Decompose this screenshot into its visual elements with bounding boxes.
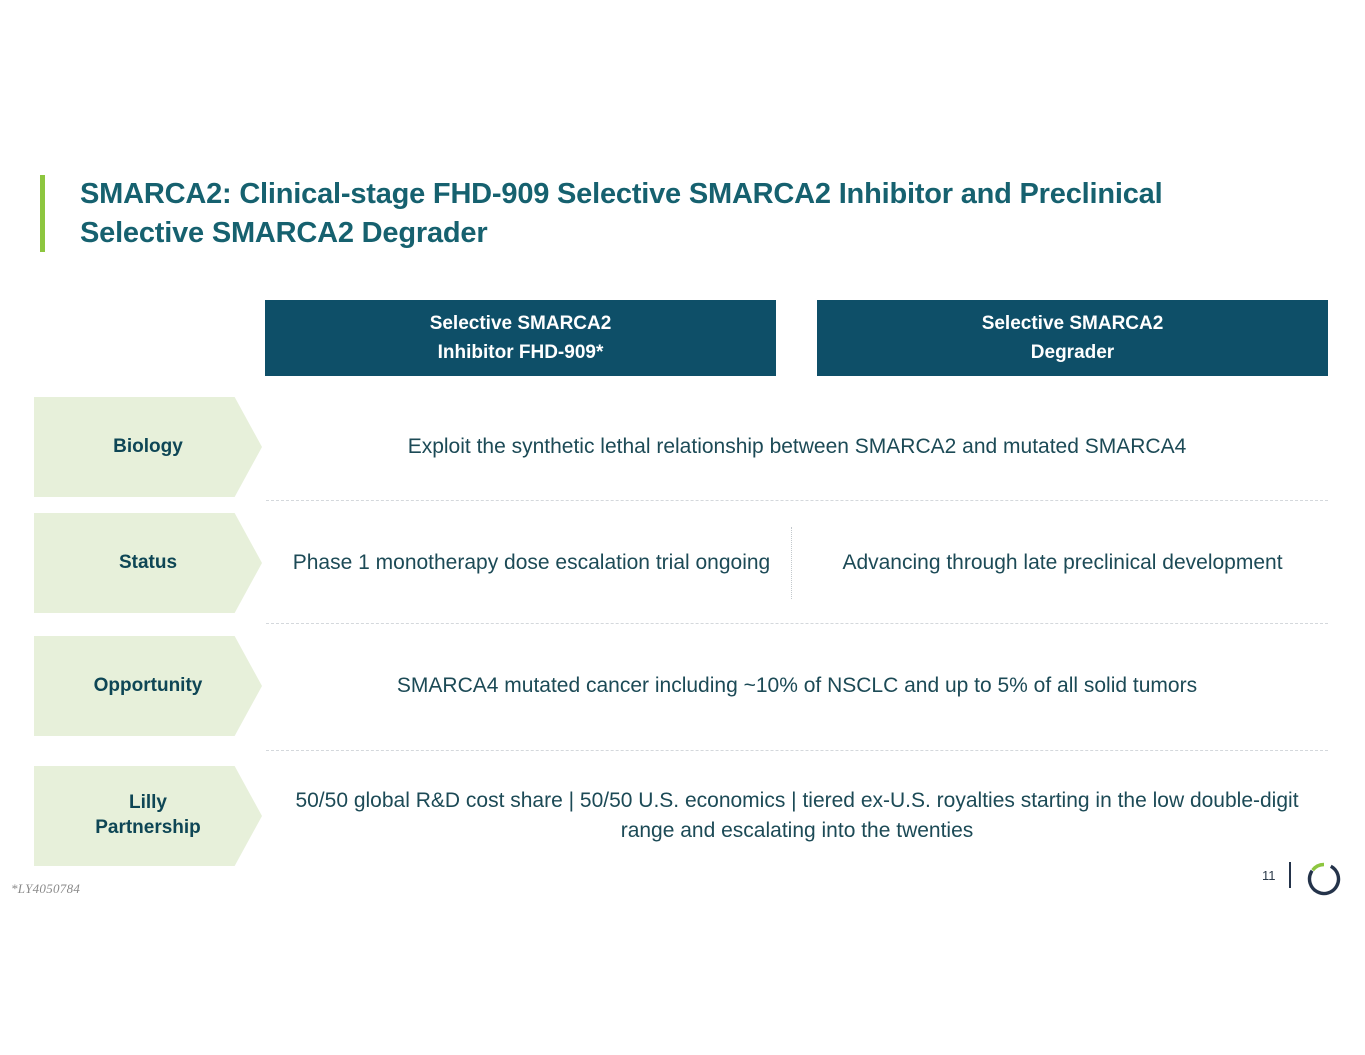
row-divider [266,500,1328,501]
row-content-status: Phase 1 monotherapy dose escalation tria… [266,513,1328,613]
column-header-degrader: Selective SMARCA2 Degrader [817,300,1328,376]
row-label-status-text: Status [119,551,177,576]
row-content-opportunity-text: SMARCA4 mutated cancer including ~10% of… [266,671,1328,701]
row-content-biology: Exploit the synthetic lethal relationshi… [266,397,1328,497]
row-content-opportunity: SMARCA4 mutated cancer including ~10% of… [266,636,1328,736]
column-divider [791,527,792,599]
row-content-lilly-partnership-text: 50/50 global R&D cost share | 50/50 U.S.… [266,786,1328,847]
column-header-degrader-line1: Selective SMARCA2 [982,309,1164,338]
column-header-inhibitor: Selective SMARCA2 Inhibitor FHD-909* [265,300,776,376]
row-label-status: Status [34,513,262,613]
row-label-opportunity-text: Opportunity [94,674,203,699]
column-header-degrader-line2: Degrader [982,338,1164,367]
table-row: Status Phase 1 monotherapy dose escalati… [0,513,1365,613]
page-number: 11 [1262,868,1276,883]
row-divider [266,750,1328,751]
title-accent-bar [40,175,45,252]
row-content-biology-text: Exploit the synthetic lethal relationshi… [266,432,1328,462]
slide-canvas: SMARCA2: Clinical-stage FHD-909 Selectiv… [0,0,1365,1055]
row-label-opportunity: Opportunity [34,636,262,736]
footnote: *LY4050784 [11,881,80,897]
row-label-biology: Biology [34,397,262,497]
row-label-lilly-partnership: Lilly Partnership [34,766,262,866]
row-content-lilly-partnership: 50/50 global R&D cost share | 50/50 U.S.… [266,766,1328,866]
table-row: Biology Exploit the synthetic lethal rel… [0,397,1365,497]
row-divider [266,623,1328,624]
row-content-status-inhibitor: Phase 1 monotherapy dose escalation tria… [266,548,797,578]
row-label-biology-text: Biology [113,435,183,460]
column-header-inhibitor-line2: Inhibitor FHD-909* [430,338,612,367]
column-header-inhibitor-line1: Selective SMARCA2 [430,309,612,338]
foghorn-ring-logo-icon [1303,858,1345,900]
row-label-lilly-partnership-line1: Lilly [95,791,201,816]
page-number-separator [1289,862,1291,888]
row-content-status-degrader: Advancing through late preclinical devel… [797,548,1328,578]
row-label-lilly-partnership-line2: Partnership [95,816,201,841]
table-row: Lilly Partnership 50/50 global R&D cost … [0,766,1365,866]
page-title: SMARCA2: Clinical-stage FHD-909 Selectiv… [80,175,1230,252]
table-row: Opportunity SMARCA4 mutated cancer inclu… [0,636,1365,736]
slide-title-block: SMARCA2: Clinical-stage FHD-909 Selectiv… [40,175,1240,252]
